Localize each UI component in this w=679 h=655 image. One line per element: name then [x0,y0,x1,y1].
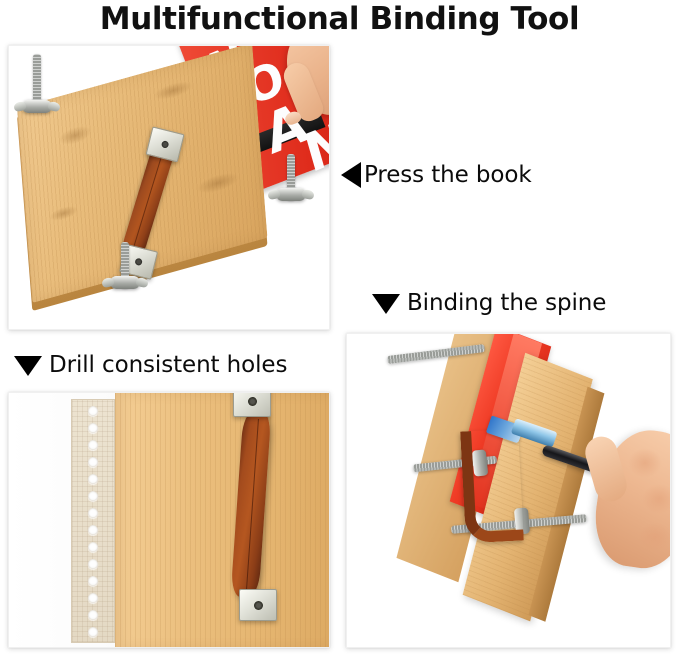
photo-stage: N O A N [9,46,329,329]
bamboo-press-board [115,393,330,648]
template-hole [88,525,98,535]
wing-nut[interactable] [22,100,52,113]
bamboo-grain-knot [153,78,193,103]
triangle-down-icon [14,356,42,376]
template-hole [88,406,98,416]
caption-press-the-book: Press the book [341,162,532,188]
caption-binding-the-spine: Binding the spine [372,290,606,316]
template-hole [88,491,98,501]
handle-mount-plate [239,589,277,621]
template-hole [88,423,98,433]
mount-screw [161,140,169,148]
caption-text: Drill consistent holes [49,352,287,378]
triangle-down-icon [372,294,400,314]
infographic-root: Multifunctional Binding Tool N O A N [0,0,679,655]
hole-punch-template-strip [71,399,115,643]
wing-nut[interactable] [276,188,306,201]
bamboo-grain-knot [49,203,79,223]
triangle-left-icon [341,162,361,188]
mount-screw [134,258,142,266]
template-hole [88,559,98,569]
wing-nut[interactable] [110,276,140,289]
template-hole [88,593,98,603]
product-photo-binding-the-spine [346,333,671,648]
bamboo-grain-knot [58,123,92,148]
hand [267,45,330,152]
hand-knuckle [628,448,662,478]
mount-screw [248,397,257,406]
mount-screw [254,601,263,610]
photo-stage [347,334,670,647]
product-photo-drill-consistent-holes [8,392,330,648]
template-hole [88,457,98,467]
template-hole [88,542,98,552]
template-hole [88,440,98,450]
photo-stage [9,393,329,647]
leather-handle-strap[interactable] [460,429,524,544]
template-hole [88,508,98,518]
page-title: Multifunctional Binding Tool [0,1,679,37]
template-hole [88,610,98,620]
handle-mount-plate [233,392,271,417]
hand-knuckle [642,484,671,514]
template-hole [88,576,98,586]
product-photo-press-the-book: N O A N [8,45,330,330]
caption-text: Press the book [364,162,532,188]
caption-text: Binding the spine [407,290,606,316]
template-hole [88,627,98,637]
template-hole [88,474,98,484]
hand-knuckle [638,522,671,552]
hand [588,430,671,580]
caption-drill-consistent-holes: Drill consistent holes [14,352,287,378]
